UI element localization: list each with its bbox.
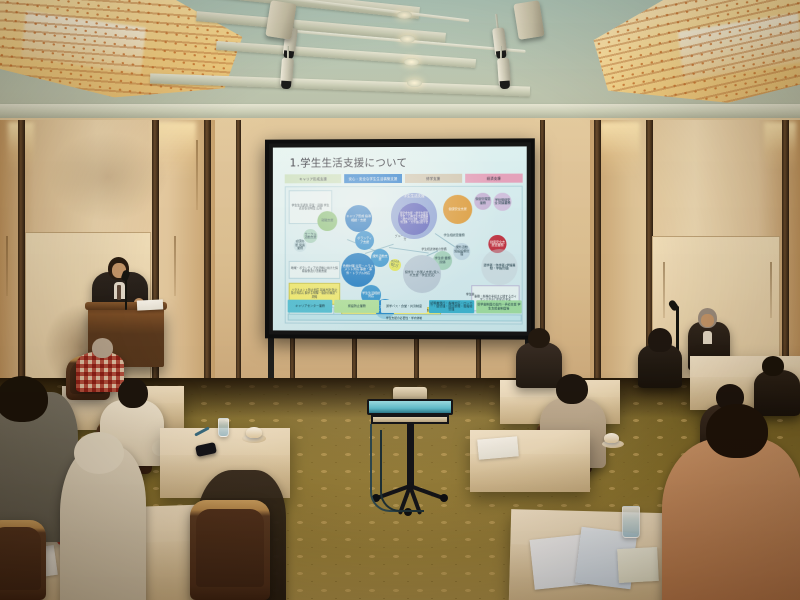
seated-official-shirt bbox=[703, 331, 712, 344]
slide-bottom-box-0: キャリアセンター業務 bbox=[288, 300, 333, 313]
slide-bottom-box-1: 施設防止業務 bbox=[334, 300, 379, 313]
seated-official-face bbox=[701, 314, 714, 327]
coffee-cup-mid-right[interactable] bbox=[604, 433, 619, 443]
wall-uplight-right-a bbox=[600, 122, 640, 178]
ceiling-speaker-left bbox=[265, 0, 296, 40]
foreground-person-right bbox=[662, 438, 800, 600]
handout-mid-right[interactable] bbox=[477, 436, 519, 459]
recessed-light-1 bbox=[397, 11, 412, 19]
chair-foreground-left bbox=[0, 520, 46, 600]
slide-bubble-9: 健康安全支援 bbox=[443, 195, 472, 224]
audience-head-beige-sweater bbox=[556, 374, 588, 404]
chair-foreground-mid bbox=[190, 500, 270, 600]
slide-bubble-12: 留学生・外国人支援 (受入れ支援・学生交流) bbox=[403, 255, 441, 293]
slide-bubble-16: 学校保健安全 関連業務 bbox=[493, 193, 511, 211]
water-glass-foreground-right[interactable] bbox=[622, 506, 640, 538]
audience-table-mid-right-skirt bbox=[470, 454, 590, 492]
slide-category-2: 修学支援 bbox=[404, 174, 461, 183]
slide-sidebox-1: 地域・ボランティアの活動に向けた情報提供及び活動支援 bbox=[289, 261, 341, 279]
audience-person-darkjacket bbox=[516, 342, 562, 388]
slide-bubble-4: 危機対策 災害・ハラスメント対応 事故・事件・トラブル対応 bbox=[341, 253, 375, 287]
slide-bottom-box-3: 証明書発行・各種対応・ロッカー・鍵管理・環境整備・駐輪場管理 bbox=[429, 300, 474, 313]
wall-slot-left-1 bbox=[6, 236, 8, 296]
slide-footer-band: 学生支援の必要性・学内体制 bbox=[288, 314, 522, 322]
foreground-head-right bbox=[706, 404, 768, 458]
slide-bottom-boxes: キャリアセンター業務 施設防止業務 通学バス・食堂・共済制度 証明書発行・各種対… bbox=[288, 300, 522, 314]
slide-bubble-extra-a: サークル活動支援 bbox=[304, 229, 318, 243]
av-cart-apron bbox=[371, 415, 449, 424]
projected-slide: 1.学生生活支援について キャリア形成支援 安心・安全な学生生活構築支援 修学支… bbox=[273, 146, 527, 331]
audience-head-darkjacket bbox=[528, 328, 550, 348]
slide-diagram: 学生生活調査 卒業・就職 学生表彰表彰制度 広報 地域・ボランティアの活動に向け… bbox=[285, 186, 523, 325]
slide-bubble-15: 保健管理室 業務 bbox=[474, 193, 491, 210]
presenter-tie bbox=[117, 285, 121, 300]
coffee-cup-mid-left[interactable] bbox=[246, 427, 262, 438]
slide-bubble-0: 就職支援 bbox=[317, 211, 337, 231]
slide-bubble-2: ボランティア支援 bbox=[355, 231, 374, 250]
slide-bubble-8: 奨学金支援 ・修学支援奨学金 ・日本学生支援機構 ・地方公共団体 ・民間奨学団体… bbox=[398, 203, 430, 235]
wall-slot-left-3 bbox=[174, 236, 176, 296]
handout-right-3[interactable] bbox=[617, 547, 659, 583]
projection-screen[interactable]: 1.学生生活支援について キャリア形成支援 安心・安全な学生生活構築支援 修学支… bbox=[265, 138, 535, 339]
wall-uplight-right-b bbox=[764, 122, 796, 172]
slide-bottom-box-4: 奨学金制度の案内・手続支援 学生支援金制度等 bbox=[476, 300, 522, 313]
slide-bubble-extra-b: 健康診断 関連業務 bbox=[294, 239, 307, 252]
foreground-head-second-left bbox=[74, 432, 124, 474]
podium-papers bbox=[137, 299, 163, 310]
av-cable-2 bbox=[380, 430, 424, 512]
water-glass-mid-left[interactable] bbox=[218, 418, 229, 437]
foreground-head-left bbox=[0, 376, 48, 422]
slide-category-0: キャリア形成支援 bbox=[285, 174, 342, 183]
audience-head-white-shirt bbox=[118, 378, 148, 408]
wall-divider-left-1 bbox=[18, 120, 25, 388]
conference-room-photo: 1.学生生活支援について キャリア形成支援 安心・安全な学生生活構築支援 修学支… bbox=[0, 0, 800, 600]
recessed-light-4 bbox=[407, 79, 422, 87]
screen-mount-left bbox=[268, 336, 274, 384]
slide-bubble-13: 課外活動 施設設備管理 bbox=[453, 243, 470, 260]
spotlight-4[interactable] bbox=[497, 58, 511, 87]
av-cart bbox=[367, 399, 453, 421]
head-table-mic-stand bbox=[676, 306, 679, 354]
audience-head-checkered bbox=[92, 338, 113, 358]
recessed-light-2 bbox=[400, 35, 415, 43]
slide-category-1: 安心・安全な学生生活構築支援 bbox=[344, 174, 401, 183]
audience-head-woman-back bbox=[648, 328, 672, 352]
wall-slot-left-2 bbox=[196, 140, 198, 210]
wall-shadow-smudge bbox=[48, 132, 168, 222]
wall-divider-left-3 bbox=[204, 120, 211, 382]
slide-bubble-node-yellow: 学びの支援ネットワーク bbox=[389, 259, 401, 271]
wall-slot-right-1 bbox=[663, 262, 665, 318]
slide-bubble-9b: 退学者・休学者 (学籍異動・学籍管理) bbox=[481, 249, 517, 285]
slide-bottom-box-2: 通学バス・食堂・共済制度 bbox=[381, 300, 426, 313]
slide-category-3: 経済支援 bbox=[465, 174, 523, 183]
av-cart-caster-1 bbox=[440, 494, 448, 502]
ceiling-speaker-right bbox=[513, 0, 544, 40]
slide-bubble-1: キャリア形成 指導相談・支援 bbox=[345, 205, 372, 232]
wall-divider-center-1 bbox=[236, 120, 241, 382]
slide-sidebox-7: 学生寮 bbox=[459, 291, 481, 299]
audience-person-partial-right bbox=[754, 370, 800, 416]
audience-head-partial-right bbox=[762, 356, 784, 376]
wall-divider-right-1 bbox=[594, 120, 601, 382]
slide-category-bar: キャリア形成支援 安心・安全な学生生活構築支援 修学支援 経済支援 bbox=[285, 174, 523, 184]
av-cart-top bbox=[367, 399, 453, 415]
wall-slot-right-2 bbox=[770, 262, 772, 318]
audience-person-checkered bbox=[76, 352, 124, 392]
wall-divider-right-3 bbox=[782, 120, 789, 388]
ceiling-cornice bbox=[0, 104, 800, 118]
ceiling bbox=[0, 0, 800, 132]
slide-title: 1.学生生活支援について bbox=[290, 155, 408, 170]
recessed-light-3 bbox=[404, 58, 419, 66]
spotlight-3[interactable] bbox=[280, 58, 294, 87]
